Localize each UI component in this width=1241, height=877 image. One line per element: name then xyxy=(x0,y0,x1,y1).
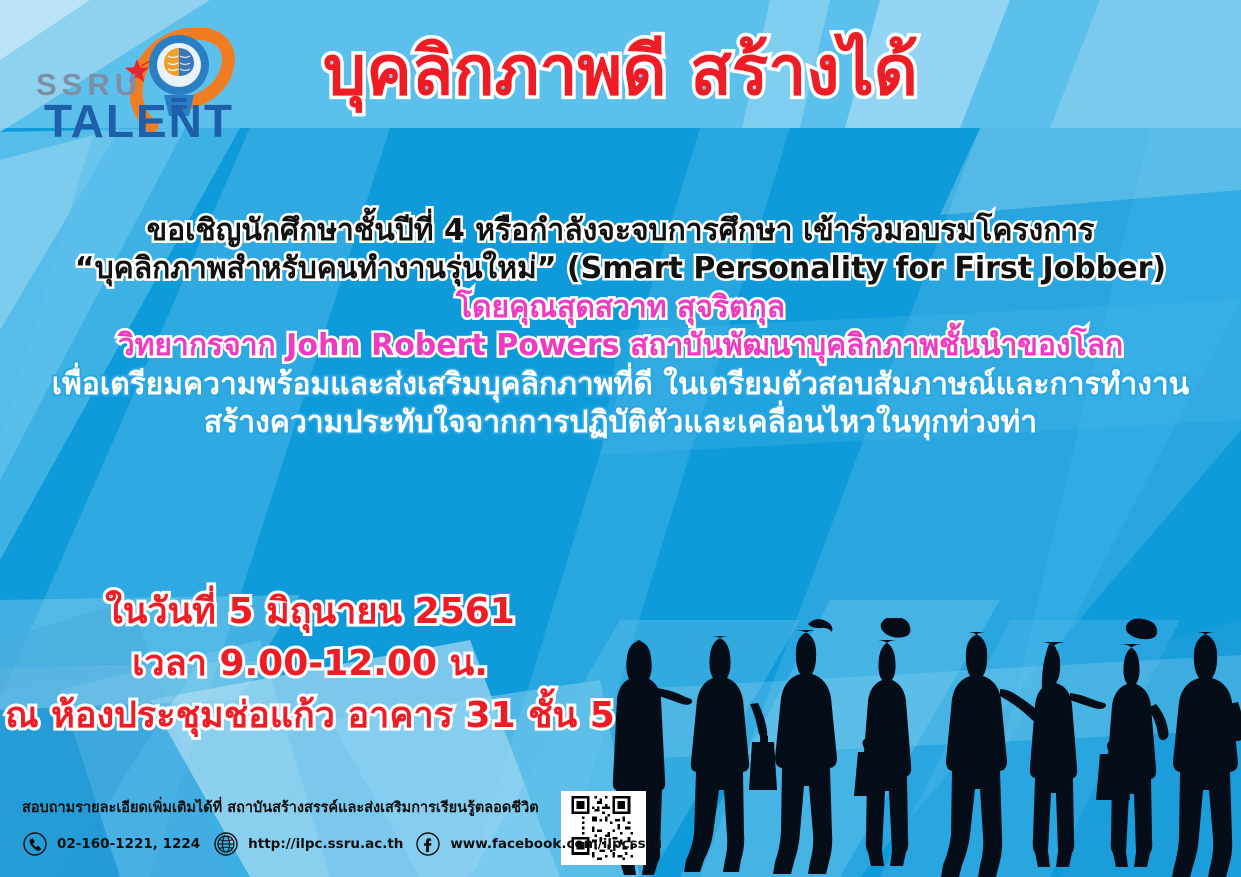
website-url: http://ilpc.ssru.ac.th xyxy=(248,836,403,852)
body-line-5: เพื่อเตรียมความพร้อมและส่งเสริมบุคลิกภาพ… xyxy=(0,366,1241,404)
body-line-1: ขอเชิญนักศึกษาชั้นปีที่ 4 หรือกำลังจะจบก… xyxy=(0,212,1241,250)
contact-facebook[interactable]: www.facebook.com/ilpcssru xyxy=(415,831,662,857)
body-text-block: ขอเชิญนักศึกษาชั้นปีที่ 4 หรือกำลังจะจบก… xyxy=(0,212,1241,442)
contact-phone[interactable]: 02-160-1221, 1224 xyxy=(22,831,200,857)
body-line-3: โดยคุณสุดสวาท สุจริตกุล xyxy=(0,289,1241,327)
phone-number: 02-160-1221, 1224 xyxy=(57,836,200,852)
body-line-2: “บุคลิกภาพสำหรับคนทำงานรุ่นใหม่” (Smart … xyxy=(0,250,1241,288)
event-venue: ณ ห้องประชุมช่อแก้ว อาคาร 31 ชั้น 5 xyxy=(0,690,620,742)
phone-icon xyxy=(22,831,48,857)
footer-contacts: 02-160-1221, 1224 http://ilpc.ssru.ac.th xyxy=(22,831,662,857)
event-time: เวลา 9.00-12.00 น. xyxy=(0,638,620,690)
event-date: ในวันที่ 5 มิถุนายน 2561 xyxy=(0,586,620,638)
page-title: บุคลิกภาพดี สร้างได้ xyxy=(0,38,1241,106)
contact-website[interactable]: http://ilpc.ssru.ac.th xyxy=(213,831,403,857)
facebook-url: www.facebook.com/ilpcssru xyxy=(450,836,662,852)
facebook-icon xyxy=(415,831,441,857)
body-line-6: สร้างความประทับใจจากการปฏิบัติตัวและเคลื… xyxy=(0,404,1241,442)
globe-icon xyxy=(213,831,239,857)
poster: SSRU TALENT บุคลิกภาพดี สร้างได้ ขอเชิญน… xyxy=(0,0,1241,877)
body-line-4: วิทยากรจาก John Robert Powers สถาบันพัฒน… xyxy=(0,327,1241,365)
footer: สอบถามรายละเอียดเพิ่มเติมได้ที่ สถาบันสร… xyxy=(22,796,662,857)
footer-title: สอบถามรายละเอียดเพิ่มเติมได้ที่ สถาบันสร… xyxy=(22,796,662,819)
event-details: ในวันที่ 5 มิถุนายน 2561 เวลา 9.00-12.00… xyxy=(0,586,620,743)
business-people-silhouettes xyxy=(600,618,1241,877)
